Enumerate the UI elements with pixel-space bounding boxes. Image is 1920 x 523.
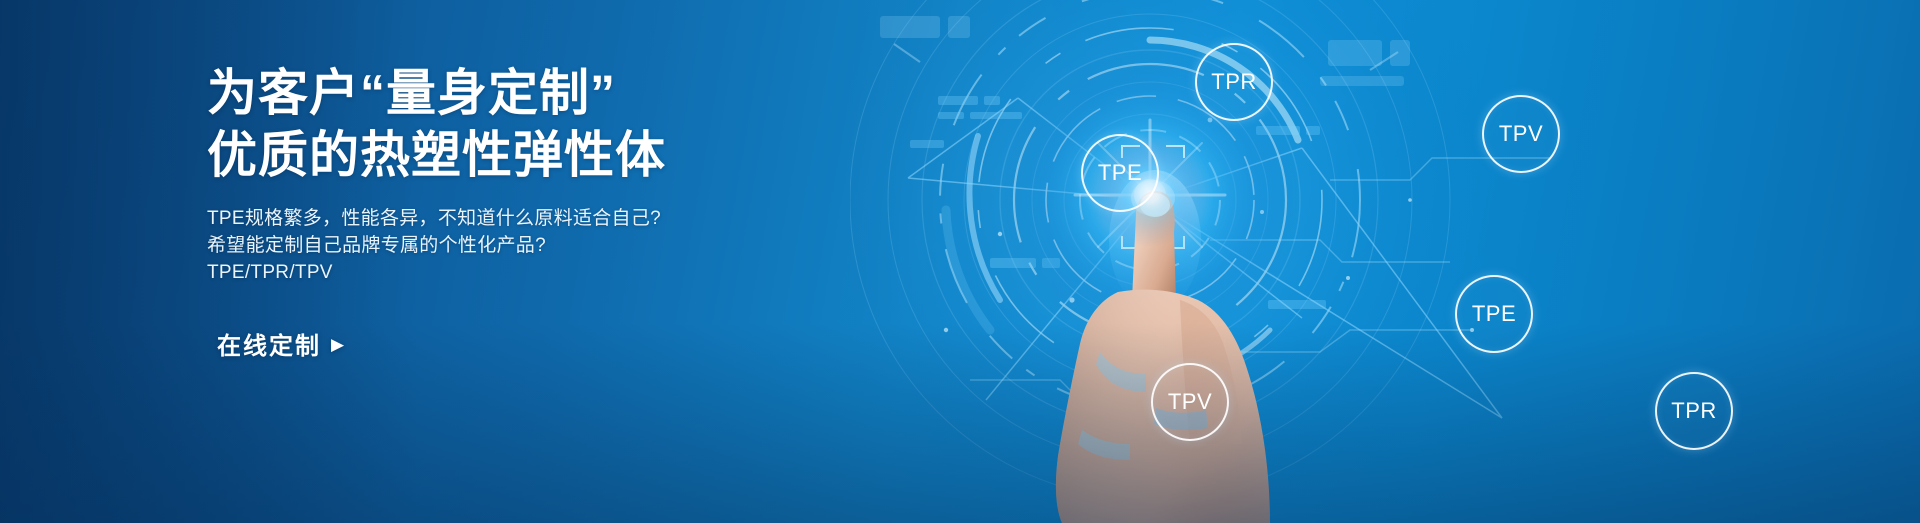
cta-label: 在线定制 bbox=[217, 326, 321, 361]
material-badge-tpr-5[interactable]: TPR bbox=[1655, 372, 1733, 450]
subtext-line-2: 希望能定制自己品牌专属的个性化产品? bbox=[207, 232, 907, 259]
material-badge-tpr-0[interactable]: TPR bbox=[1195, 43, 1273, 121]
material-badge-tpe-2[interactable]: TPE bbox=[1081, 134, 1159, 212]
hero-subtext: TPE规格繁多，性能各异，不知道什么原料适合自己? 希望能定制自己品牌专属的个性… bbox=[207, 205, 907, 286]
online-customization-button[interactable]: 在线定制 ▶ bbox=[217, 326, 346, 361]
material-badge-label: TPR bbox=[1671, 398, 1717, 424]
hero-copy: 为客户“量身定制” 优质的热塑性弹性体 TPE规格繁多，性能各异，不知道什么原料… bbox=[207, 62, 907, 361]
headline-line-1: 为客户“量身定制” bbox=[207, 62, 907, 124]
material-badge-label: TPE bbox=[1472, 301, 1516, 327]
material-badge-label: TPR bbox=[1211, 69, 1257, 95]
subtext-line-3: TPE/TPR/TPV bbox=[207, 259, 907, 286]
material-badge-tpv-1[interactable]: TPV bbox=[1482, 95, 1560, 173]
hero-banner: TPRTPVTPETPETPVTPR 为客户“量身定制” 优质的热塑性弹性体 T… bbox=[0, 0, 1920, 523]
material-badge-label: TPE bbox=[1098, 160, 1142, 186]
tech-circle-illustration bbox=[850, 0, 1920, 523]
material-badge-label: TPV bbox=[1168, 389, 1212, 415]
subtext-line-1: TPE规格繁多，性能各异，不知道什么原料适合自己? bbox=[207, 205, 907, 232]
material-badge-tpv-4[interactable]: TPV bbox=[1151, 363, 1229, 441]
tech-graphic: TPRTPVTPETPETPVTPR bbox=[850, 0, 1920, 523]
play-triangle-right-icon: ▶ bbox=[331, 336, 346, 353]
headline-line-2: 优质的热塑性弹性体 bbox=[207, 124, 907, 186]
page-title: 为客户“量身定制” 优质的热塑性弹性体 bbox=[207, 62, 907, 186]
material-badge-label: TPV bbox=[1499, 121, 1543, 147]
material-badge-tpe-3[interactable]: TPE bbox=[1455, 275, 1533, 353]
